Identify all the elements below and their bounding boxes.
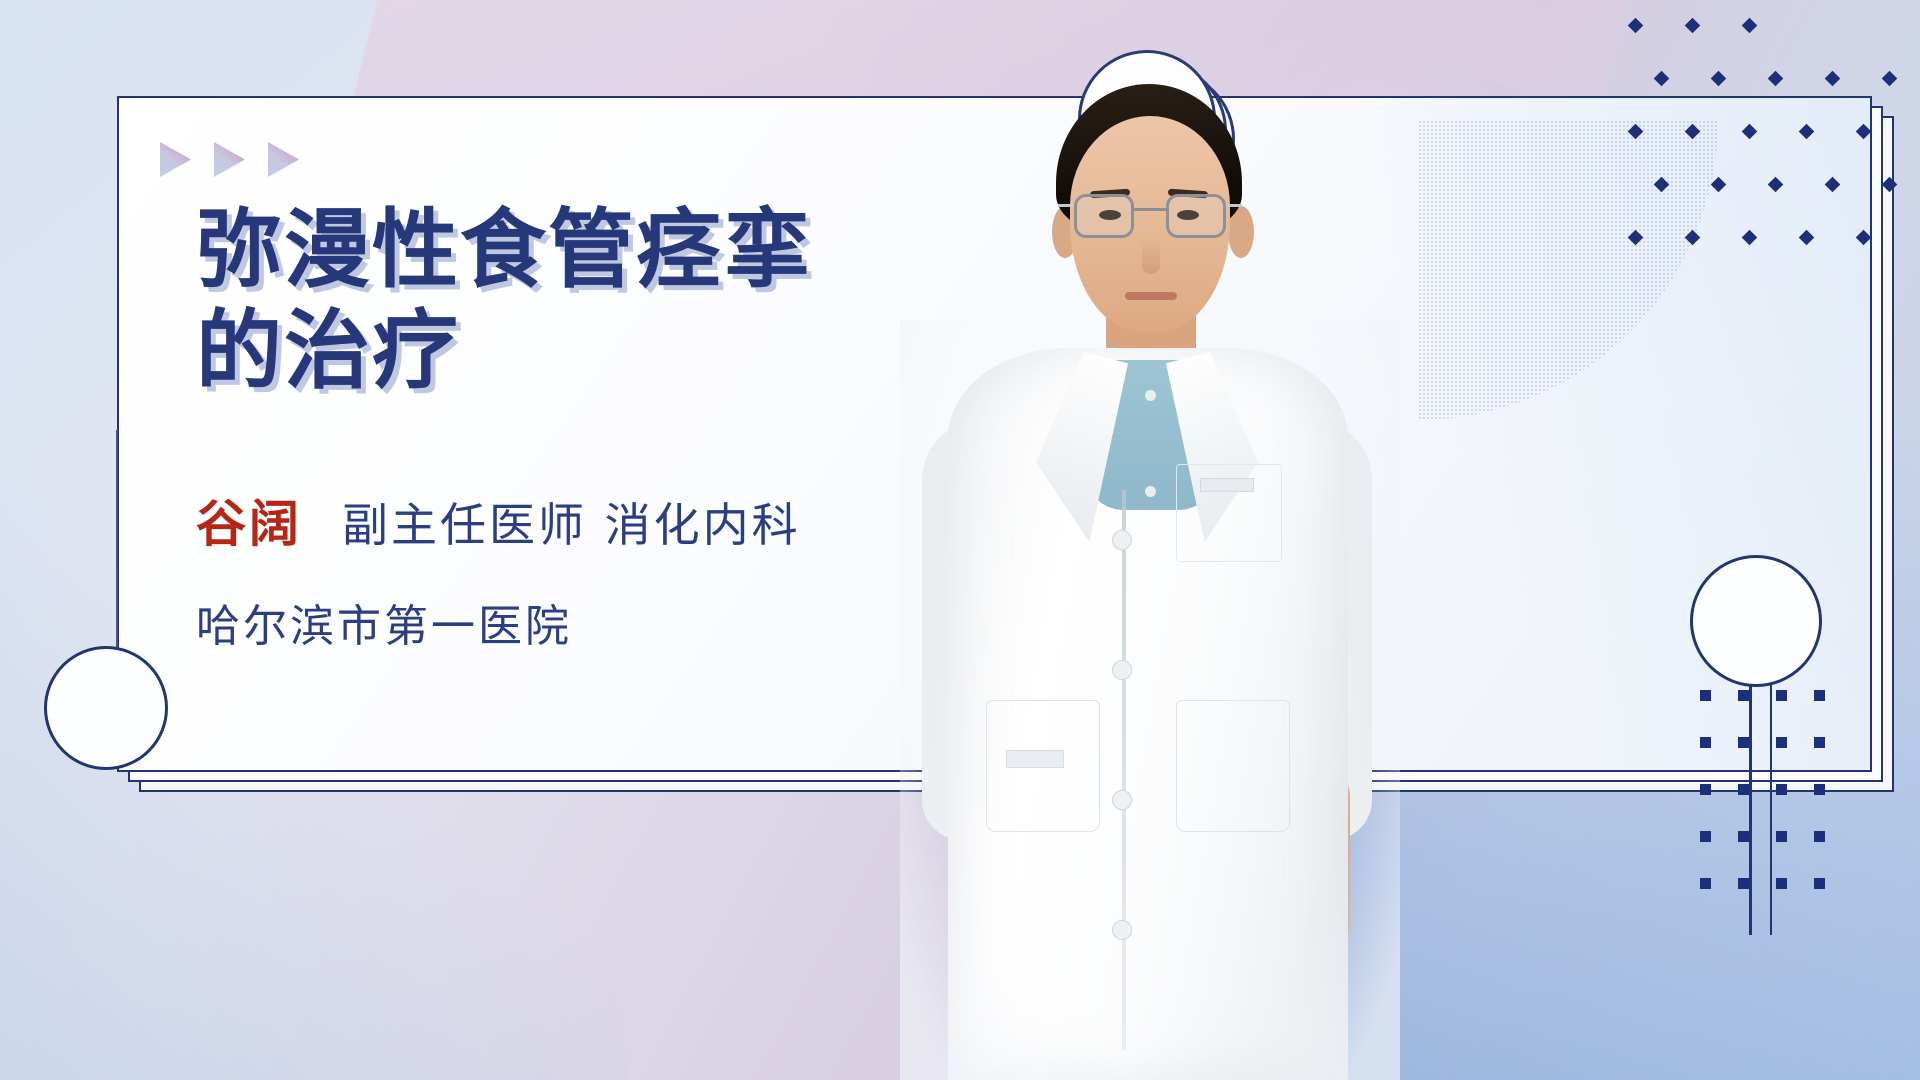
diamond-dot (1856, 230, 1872, 246)
coat-badge (1200, 478, 1254, 492)
diamond-dot (1742, 124, 1758, 140)
diamond-dot (1654, 177, 1670, 193)
square-dot (1700, 831, 1711, 842)
nose (1142, 240, 1160, 274)
square-dot (1700, 690, 1711, 701)
diamond-dot (1654, 71, 1670, 87)
doctor-credentials-row: 谷阔 副主任医师 消化内科 (196, 484, 801, 556)
glasses-temple-right (1226, 204, 1242, 207)
diamond-dot (1799, 230, 1815, 246)
diamond-dot (1742, 230, 1758, 246)
square-dot (1738, 737, 1749, 748)
square-dot (1700, 737, 1711, 748)
diamond-dot (1768, 71, 1784, 87)
diamond-dot (1825, 71, 1841, 87)
square-dot-grid (1700, 690, 1920, 920)
coat-button (1112, 790, 1132, 810)
square-dot (1814, 878, 1825, 889)
diamond-dot (1768, 177, 1784, 193)
arrow-triangles-group (160, 142, 299, 177)
diamond-dot (1711, 71, 1727, 87)
diamond-dot (1628, 124, 1644, 140)
play-triangle-icon (268, 142, 299, 177)
glasses-lens-right (1166, 194, 1226, 238)
diamond-dot (1685, 18, 1701, 34)
diamond-dot (1882, 177, 1898, 193)
square-dot (1700, 878, 1711, 889)
square-dot (1814, 690, 1825, 701)
square-dot (1738, 878, 1749, 889)
diamond-dot (1799, 124, 1815, 140)
square-dot (1814, 784, 1825, 795)
diamond-dot (1628, 18, 1644, 34)
square-dot (1738, 831, 1749, 842)
circle-stem-left (116, 430, 118, 650)
glasses-temple-left (1058, 204, 1074, 207)
doctor-role: 副主任医师 消化内科 (342, 489, 801, 555)
square-dot (1738, 784, 1749, 795)
diamond-dot (1685, 230, 1701, 246)
square-dot (1776, 784, 1787, 795)
square-dot (1776, 737, 1787, 748)
play-triangle-icon (214, 142, 245, 177)
coat-button (1112, 530, 1132, 550)
circle-bottom-left-icon (44, 646, 168, 770)
doctor-portrait (860, 60, 1420, 1080)
square-dot (1776, 690, 1787, 701)
circle-right-icon (1690, 555, 1822, 687)
coat-button (1112, 660, 1132, 680)
square-dot (1776, 878, 1787, 889)
slide-canvas: 弥漫性食管痉挛 的治疗 谷阔 副主任医师 消化内科 哈尔滨市第一医院 (0, 0, 1920, 1080)
doctor-name: 谷阔 (196, 484, 302, 556)
diamond-dot (1825, 177, 1841, 193)
diamond-dot-grid (1630, 20, 1920, 320)
mouth (1125, 292, 1177, 300)
glasses-lens-left (1074, 194, 1134, 238)
glasses-bridge (1134, 208, 1166, 211)
diamond-dot (1628, 230, 1644, 246)
coat-button (1112, 920, 1132, 940)
square-dot (1700, 784, 1711, 795)
square-dot (1814, 737, 1825, 748)
glasses-icon (1074, 194, 1226, 242)
diamond-dot (1882, 71, 1898, 87)
square-dot (1738, 690, 1749, 701)
diamond-dot (1856, 124, 1872, 140)
shirt-button (1145, 390, 1156, 401)
square-dot (1814, 831, 1825, 842)
coat-label-tag (1006, 750, 1064, 768)
diamond-dot (1711, 177, 1727, 193)
hospital-name: 哈尔滨市第一医院 (196, 590, 572, 654)
play-triangle-icon (160, 142, 191, 177)
coat-placket (1122, 490, 1126, 1050)
diamond-dot (1742, 18, 1758, 34)
diamond-dot (1685, 124, 1701, 140)
coat-pocket-right (1176, 700, 1290, 832)
square-dot (1776, 831, 1787, 842)
